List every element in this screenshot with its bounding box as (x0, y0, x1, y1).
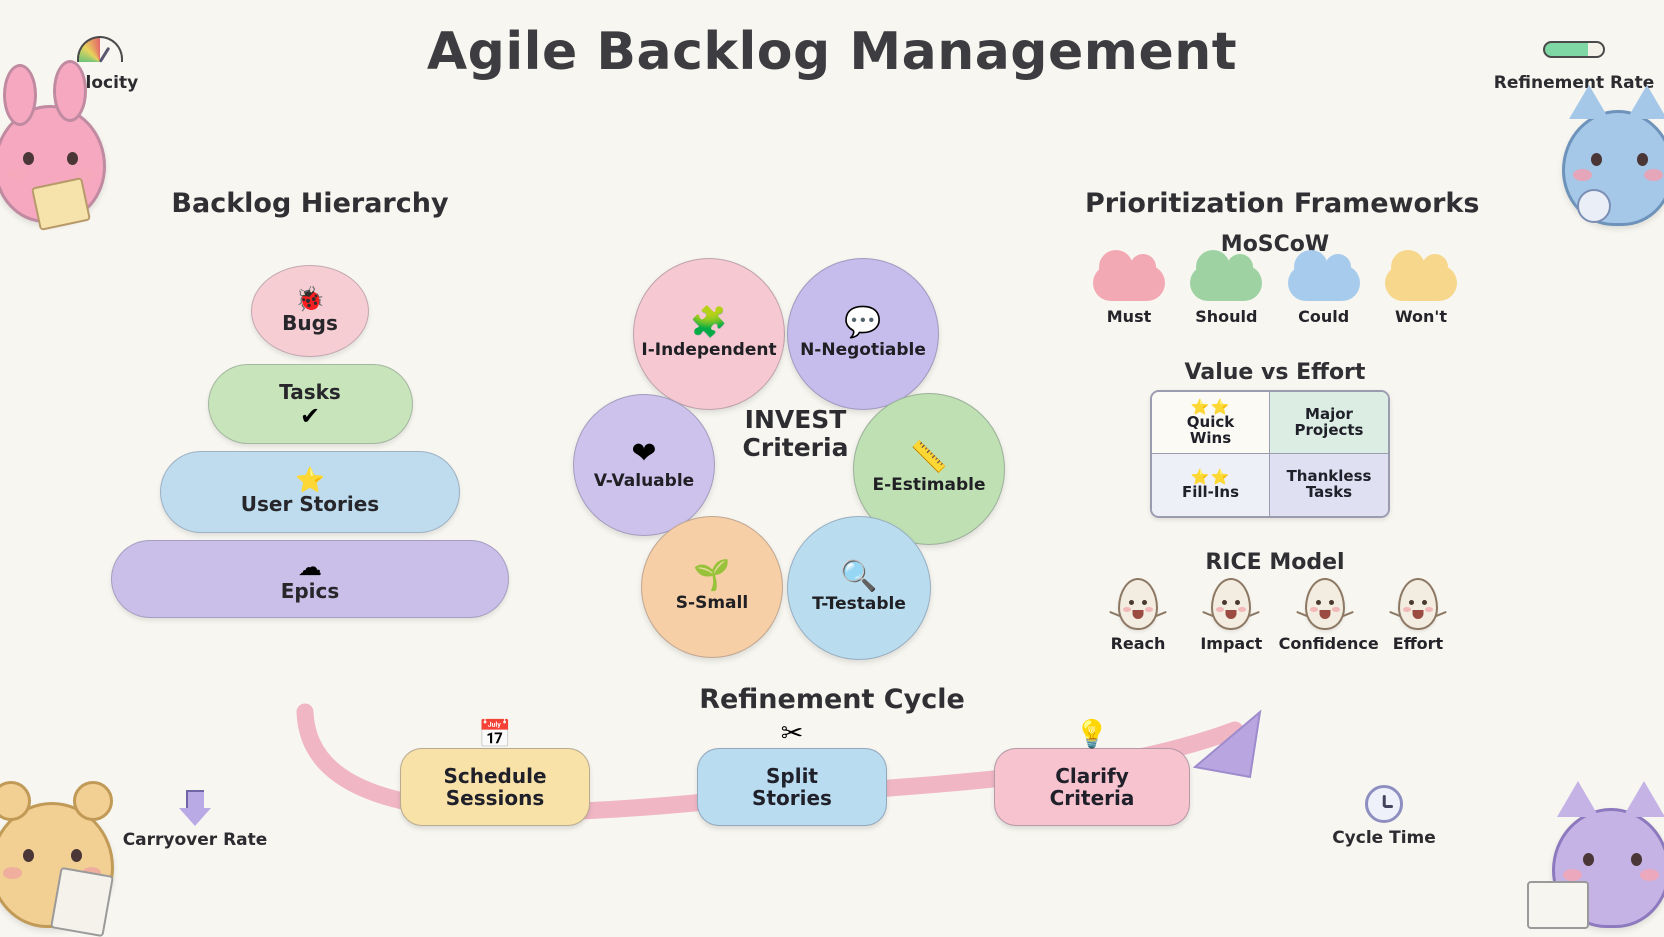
invest-circle-label: T-Testable (812, 594, 906, 614)
matrix-cell-label: ThanklessTasks (1287, 469, 1372, 501)
backlog-tier-label: Bugs (282, 311, 338, 335)
cycle-node-schedule-sessions[interactable]: 📅ScheduleSessions (400, 748, 590, 826)
rice-grain-icon (1118, 578, 1158, 630)
calendar-icon: 📅 (478, 718, 512, 750)
matrix-cell-label: Fill-Ins (1182, 485, 1239, 501)
lightbulb-icon: 💡 (1075, 718, 1109, 750)
moscow-item-must[interactable]: Must (1085, 265, 1173, 326)
rice-model-group: ReachImpactConfidenceEffort (1092, 578, 1464, 653)
matrix-cell-fill-ins[interactable]: ⭐⭐Fill-Ins (1152, 454, 1270, 516)
puzzle-icon: 🧩 (690, 308, 727, 338)
invest-circle-label: S-Small (676, 593, 748, 613)
check-mark-icon: ✔ (300, 404, 320, 428)
invest-circle-t-testable[interactable]: 🔍T-Testable (787, 516, 931, 660)
ladybug-icon: 🐞 (295, 287, 325, 311)
backlog-tier-user-stories[interactable]: ⭐User Stories (160, 451, 460, 533)
cycle-node-clarify-criteria[interactable]: 💡ClarifyCriteria (994, 748, 1190, 826)
invest-circle-label: N-Negotiable (800, 340, 926, 360)
rice-item-impact[interactable]: Impact (1185, 578, 1277, 653)
backlog-tier-bugs[interactable]: 🐞Bugs (251, 265, 369, 357)
clock-icon (1299, 783, 1469, 825)
ruler-icon: 📏 (910, 443, 947, 473)
invest-title-line2: Criteria (723, 434, 868, 462)
moscow-item-should[interactable]: Should (1182, 265, 1270, 326)
invest-circle-v-valuable[interactable]: ❤V-Valuable (573, 394, 715, 536)
backlog-hierarchy-heading: Backlog Hierarchy (110, 188, 510, 219)
backlog-tier-label: User Stories (241, 492, 379, 516)
backlog-tier-label: Epics (281, 579, 340, 603)
cloud-icon (1288, 265, 1360, 301)
cycle-node-label: ScheduleSessions (443, 765, 546, 810)
invest-circle-i-independent[interactable]: 🧩I-Independent (633, 258, 785, 410)
scissors-icon: ✂ (781, 718, 804, 749)
matrix-cell-major-projects[interactable]: MajorProjects (1270, 392, 1388, 454)
rice-item-reach[interactable]: Reach (1092, 578, 1184, 653)
pink-bunny-mascot (0, 105, 106, 223)
invest-circle-label: V-Valuable (594, 471, 694, 491)
moscow-item-label: Should (1182, 307, 1270, 326)
matrix-cell-quick-wins[interactable]: ⭐⭐QuickWins (1152, 392, 1270, 454)
prioritization-heading: Prioritization Frameworks (1085, 188, 1465, 219)
refinement-cycle-title: Refinement Cycle (0, 684, 1664, 715)
rice-grain-icon (1211, 578, 1251, 630)
metric-velocity-label: Velocity (15, 73, 185, 93)
metric-carryover-rate: Carryover Rate (110, 785, 280, 850)
matrix-cell-thankless-tasks[interactable]: ThanklessTasks (1270, 454, 1388, 516)
cloud-icon (1093, 265, 1165, 301)
metric-cycle-time: Cycle Time (1299, 783, 1469, 848)
matrix-cell-label: QuickWins (1187, 415, 1234, 447)
page-title: Agile Backlog Management (0, 22, 1664, 82)
rice-item-label: Impact (1185, 634, 1277, 653)
rice-item-confidence[interactable]: Confidence (1279, 578, 1371, 653)
metric-carryover-rate-label: Carryover Rate (110, 830, 280, 850)
moscow-item-wont[interactable]: Won't (1377, 265, 1465, 326)
infographic-canvas: Agile Backlog Management Velocity Refine… (0, 0, 1664, 928)
cycle-node-split-stories[interactable]: ✂SplitStories (697, 748, 887, 826)
star-icon: ⭐ (295, 468, 325, 492)
rice-item-label: Reach (1092, 634, 1184, 653)
backlog-tier-epics[interactable]: ☁Epics (111, 540, 509, 618)
moscow-item-could[interactable]: Could (1280, 265, 1368, 326)
seedling-icon: 🌱 (693, 561, 730, 591)
backlog-hierarchy-pyramid: 🐞BugsTasks✔⭐User Stories☁Epics (110, 265, 510, 625)
rice-item-label: Confidence (1279, 634, 1371, 653)
metric-velocity: Velocity (15, 28, 185, 93)
refinement-cycle-nodes: 📅ScheduleSessions✂SplitStories💡ClarifyCr… (400, 748, 1190, 826)
blue-cat-mascot (1562, 110, 1664, 226)
rice-item-effort[interactable]: Effort (1372, 578, 1464, 653)
invest-title-line1: INVEST (723, 406, 868, 434)
magnifier-icon: 🔍 (840, 562, 877, 592)
cloud-icon (1385, 265, 1457, 301)
invest-circle-n-negotiable[interactable]: 💬N-Negotiable (787, 258, 939, 410)
moscow-item-label: Won't (1377, 307, 1465, 326)
invest-circle-s-small[interactable]: 🌱S-Small (641, 516, 783, 658)
progress-bar-icon (1489, 28, 1659, 70)
metric-cycle-time-label: Cycle Time (1299, 828, 1469, 848)
matrix-cell-label: MajorProjects (1294, 407, 1363, 439)
invest-criteria-group: INVEST Criteria 🧩I-Independent💬N-Negotia… (565, 258, 1025, 658)
moscow-group: MustShouldCouldWon't (1085, 265, 1465, 326)
gauge-icon (15, 28, 185, 70)
moscow-item-label: Must (1085, 307, 1173, 326)
metric-refinement-rate: Refinement Rate (1489, 28, 1659, 93)
value-vs-effort-title: Value vs Effort (1085, 360, 1465, 385)
heart-icon: ❤ (631, 439, 656, 469)
rice-model-title: RICE Model (1085, 550, 1465, 575)
speech-bubble-icon: 💬 (844, 308, 881, 338)
yellow-bear-mascot (0, 802, 114, 928)
value-vs-effort-matrix: ⭐⭐QuickWinsMajorProjects⭐⭐Fill-InsThankl… (1150, 390, 1390, 518)
cycle-node-label: SplitStories (752, 765, 832, 810)
invest-circle-label: I-Independent (641, 340, 776, 360)
invest-circle-label: E-Estimable (872, 475, 985, 495)
moscow-item-label: Could (1280, 307, 1368, 326)
down-arrow-icon (110, 785, 280, 827)
rice-grain-icon (1398, 578, 1438, 630)
backlog-tier-tasks[interactable]: Tasks✔ (208, 364, 413, 444)
cloud-icon (1190, 265, 1262, 301)
cycle-node-label: ClarifyCriteria (1050, 765, 1135, 810)
rice-grain-icon (1305, 578, 1345, 630)
invest-center-label: INVEST Criteria (723, 406, 868, 462)
backlog-tier-label: Tasks (279, 380, 341, 404)
rice-item-label: Effort (1372, 634, 1464, 653)
cloud-icon: ☁ (298, 555, 322, 579)
purple-fox-mascot (1552, 808, 1664, 928)
